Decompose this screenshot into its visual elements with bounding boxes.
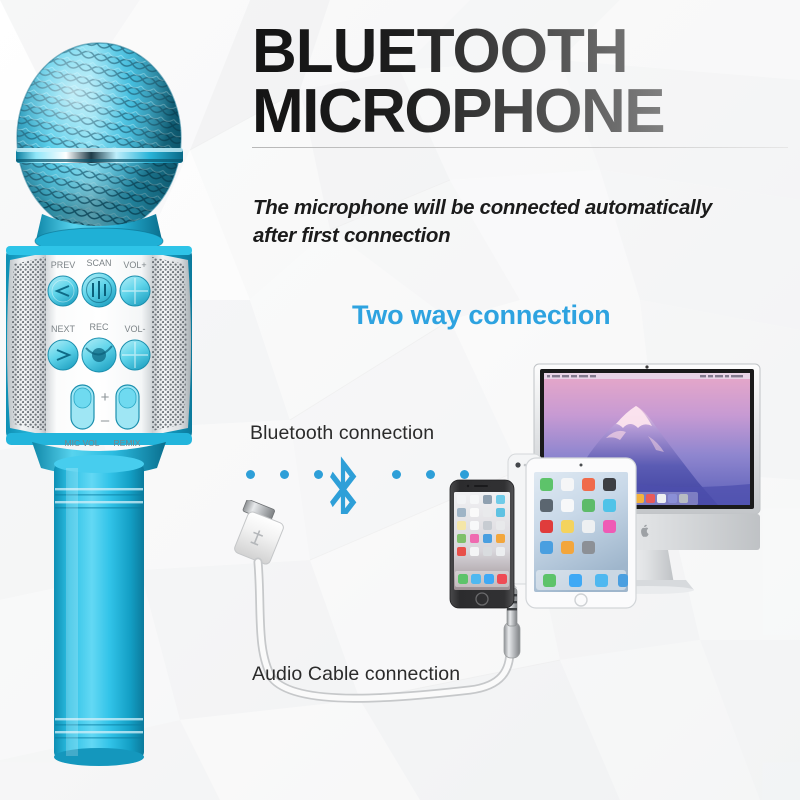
control-button-prev[interactable]: PREV (48, 260, 78, 306)
tablet-dock (536, 570, 628, 590)
head-band (16, 148, 183, 163)
control-label-rec: REC (89, 322, 109, 332)
camera-icon (515, 462, 520, 467)
promo-banner: BLUETOOTH MICROPHONE The microphone will… (0, 0, 800, 800)
webcam-icon (645, 365, 648, 368)
microphone-head (14, 38, 189, 243)
path-dot (246, 470, 255, 479)
section-heading: Two way connection (352, 300, 610, 331)
control-label-scan: SCAN (86, 258, 111, 268)
smartphone (450, 480, 514, 608)
control-button-volume-up[interactable]: VOL+ (120, 260, 150, 306)
headline-divider (252, 147, 788, 148)
control-label-next: NEXT (51, 324, 76, 334)
subtitle-line-2: after first connection (253, 222, 798, 250)
speaker-grille-left (7, 252, 50, 436)
audio-cable-connection-label: Audio Cable connection (252, 663, 460, 686)
subtitle: The microphone will be connected automat… (253, 194, 798, 251)
control-label-prev: PREV (51, 260, 76, 270)
subtitle-line-1: The microphone will be connected automat… (253, 194, 798, 222)
micro-usb-connector (233, 500, 285, 566)
speaker-grille-right (148, 252, 191, 436)
control-button-next[interactable]: NEXT (48, 324, 78, 370)
microphone-handle (32, 442, 166, 766)
phone-dock (455, 571, 509, 587)
control-button-scan[interactable]: SCAN (82, 258, 116, 307)
control-label-vol-down: VOL- (124, 324, 145, 334)
slider-remix[interactable]: REMIX (114, 385, 141, 448)
bluetooth-connection-label: Bluetooth connection (250, 422, 434, 445)
device-cluster (430, 358, 800, 658)
headline-line-1: BLUETOOTH (252, 22, 792, 82)
tablet (526, 458, 636, 608)
front-camera-icon (467, 485, 469, 487)
slider-knob-remix[interactable] (119, 388, 136, 408)
headline-line-2: MICROPHONE (252, 82, 792, 142)
slider-knob-mic-vol[interactable] (74, 388, 91, 408)
control-button-volume-down[interactable]: VOL- (120, 324, 150, 370)
front-camera-icon (580, 464, 583, 467)
page-title: BLUETOOTH MICROPHONE (252, 22, 792, 148)
bluetooth-microphone: PREV SCAN VOL+ NEXT REC VOL- (0, 28, 244, 768)
earpiece-icon (474, 485, 488, 487)
slider-mark-minus: – (101, 412, 110, 429)
path-dot (392, 470, 401, 479)
slider-label-remix: REMIX (114, 438, 141, 448)
slider-mark-plus: + (101, 389, 110, 406)
path-dot (280, 470, 289, 479)
control-label-vol-up: VOL+ (123, 260, 146, 270)
slider-label-mic-vol: MIC VOL (65, 438, 100, 448)
